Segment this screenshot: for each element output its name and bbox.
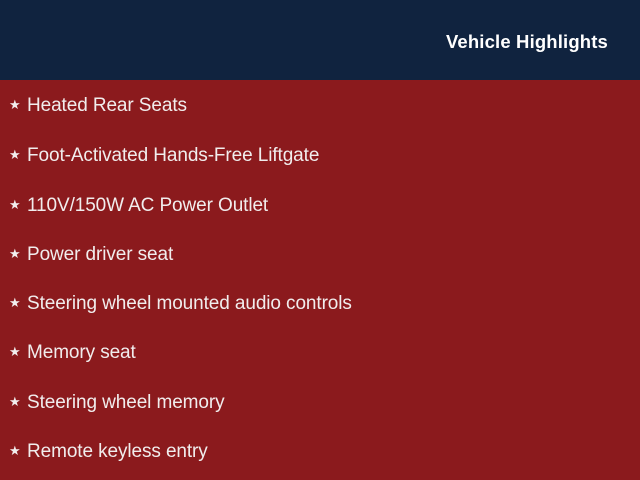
star-bullet-icon: ★ [9,148,27,161]
page-title: Vehicle Highlights [446,33,608,52]
list-item-label: Memory seat [27,343,136,362]
star-bullet-icon: ★ [9,345,27,358]
star-bullet-icon: ★ [9,198,27,211]
list-item-label: Remote keyless entry [27,442,208,461]
highlights-panel: ★ Heated Rear Seats ★ Foot-Activated Han… [0,80,640,480]
list-item-label: 110V/150W AC Power Outlet [27,196,268,215]
list-item: ★ Remote keyless entry [0,436,640,466]
star-bullet-icon: ★ [9,395,27,408]
list-item: ★ Steering wheel mounted audio controls [0,288,640,318]
list-item-label: Steering wheel memory [27,393,224,412]
list-item: ★ Memory seat [0,337,640,367]
list-item: ★ 110V/150W AC Power Outlet [0,190,640,220]
list-item: ★ Power driver seat [0,239,640,269]
list-item: ★ Steering wheel memory [0,387,640,417]
star-bullet-icon: ★ [9,247,27,260]
star-bullet-icon: ★ [9,296,27,309]
list-item-label: Foot-Activated Hands-Free Liftgate [27,146,319,165]
vehicle-highlights-slide: Vehicle Highlights ★ Heated Rear Seats ★… [0,0,640,480]
list-item: ★ Heated Rear Seats [0,90,640,120]
star-bullet-icon: ★ [9,98,27,111]
list-item-label: Power driver seat [27,245,173,264]
list-item-label: Heated Rear Seats [27,96,187,115]
header-bar: Vehicle Highlights [0,0,640,80]
list-item-label: Steering wheel mounted audio controls [27,294,352,313]
star-bullet-icon: ★ [9,444,27,457]
list-item: ★ Foot-Activated Hands-Free Liftgate [0,140,640,170]
